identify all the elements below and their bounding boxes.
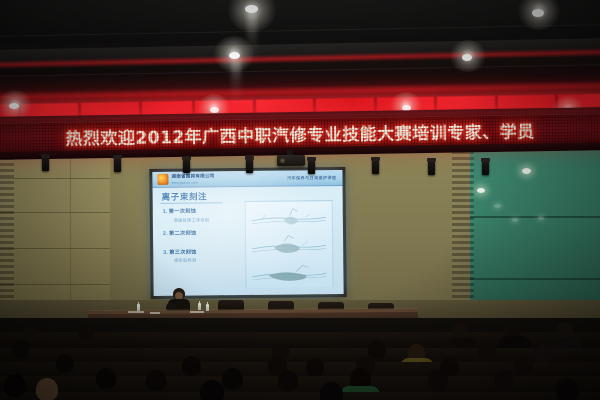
audience-member <box>494 370 514 391</box>
ceiling-downlight <box>462 54 472 61</box>
audience-member <box>452 322 468 339</box>
wall-downlight <box>477 188 485 193</box>
list-item: 2.第二次刻蚀 <box>163 229 241 237</box>
stage-spotlight <box>308 160 315 174</box>
bullet-label: 第三次刻蚀 <box>169 249 197 255</box>
water-bottle <box>137 304 140 311</box>
company-logo-text: 湖南省国邦有限公司 <box>171 173 214 179</box>
projection-screen-frame: 湖南省国邦有限公司 www.gbauto.com 汽车保养与日常维护讲座 离子束… <box>149 167 346 299</box>
stage-spotlight <box>183 159 190 173</box>
audience-member <box>24 326 39 342</box>
audience-member <box>36 378 58 400</box>
bullet-subtext: 表面处理工序说明 <box>174 217 241 224</box>
ceiling-projector <box>277 155 305 166</box>
audience-member <box>56 354 74 373</box>
ceiling-downlight <box>245 5 258 13</box>
stage-spotlight <box>428 161 435 175</box>
wall-downlight <box>522 168 531 174</box>
ceiling-downlight <box>210 107 219 113</box>
slide-bullet-list: 1.第一次刻蚀 表面处理工序说明 2.第二次刻蚀 3.第三次刻蚀 成形后检测 <box>163 207 242 270</box>
projector-lens-icon <box>280 158 285 163</box>
wall-downlight-dim <box>538 216 544 220</box>
bullet-label: 第一次刻蚀 <box>169 209 197 215</box>
audience-member <box>96 368 116 389</box>
slide-figure-panel <box>245 200 334 289</box>
audience-member <box>320 382 343 400</box>
water-bottle <box>206 304 209 311</box>
audience-member <box>534 344 552 363</box>
bullet-subtext <box>174 238 241 239</box>
paper-sheet <box>190 311 204 313</box>
audience-member <box>182 356 201 376</box>
audience-area <box>0 318 600 400</box>
bullet-main: 3.第三次刻蚀 <box>163 248 241 256</box>
audience-member <box>222 368 243 390</box>
stage-spotlight <box>482 161 489 175</box>
bullet-subtext: 成形后检测 <box>174 257 241 264</box>
audience-member <box>306 358 324 377</box>
paper-sheet <box>150 312 160 314</box>
ceiling <box>0 0 600 118</box>
slide-title-rule <box>161 202 223 204</box>
stage-spotlight <box>372 160 379 174</box>
ceiling-downlight <box>9 103 19 109</box>
ceiling-downlight <box>229 52 240 59</box>
stage-spotlight <box>246 159 253 173</box>
company-logo-subtext: www.gbauto.com <box>171 180 197 184</box>
figure-diagram-1 <box>250 205 328 230</box>
audience-member <box>146 370 166 391</box>
light-beam <box>231 60 241 106</box>
ceiling-downlight <box>532 9 544 17</box>
projection-screen: 湖南省国邦有限公司 www.gbauto.com 汽车保养与日常维护讲座 离子束… <box>152 170 343 296</box>
audience-member <box>78 324 94 341</box>
figure-diagram-3 <box>250 259 328 284</box>
audience-member <box>514 356 533 376</box>
wall-downlight-dim <box>494 204 501 208</box>
list-item: 1.第一次刻蚀 表面处理工序说明 <box>163 207 241 223</box>
wall-downlight-dim <box>512 218 518 222</box>
audience-member <box>428 370 448 391</box>
company-logo-icon <box>157 174 168 185</box>
audience-member <box>12 340 29 358</box>
bullet-main: 2.第二次刻蚀 <box>163 229 241 237</box>
figure-diagram-2 <box>250 232 328 257</box>
audience-member <box>278 370 298 391</box>
water-bottle <box>198 303 201 310</box>
slide-title: 离子束刻注 <box>162 190 208 202</box>
stage-spotlight <box>114 158 121 172</box>
stage-spotlight <box>42 157 49 171</box>
seat-row <box>0 392 600 400</box>
slide-header-right-text: 汽车保养与日常维护讲座 <box>287 175 336 182</box>
bullet-label: 第二次刻蚀 <box>169 230 197 236</box>
audience-member <box>200 380 224 400</box>
audience-member <box>556 378 579 400</box>
audience-member <box>4 374 26 397</box>
ceiling-seam <box>0 24 600 37</box>
paper-sheet <box>128 311 144 313</box>
bullet-main: 1.第一次刻蚀 <box>163 207 241 215</box>
audience-member <box>478 342 496 361</box>
audience-member <box>368 340 386 359</box>
auditorium-photo: 湖南省国邦有限公司 www.gbauto.com 汽车保养与日常维护讲座 离子束… <box>0 0 600 400</box>
list-item: 3.第三次刻蚀 成形后检测 <box>163 248 241 264</box>
